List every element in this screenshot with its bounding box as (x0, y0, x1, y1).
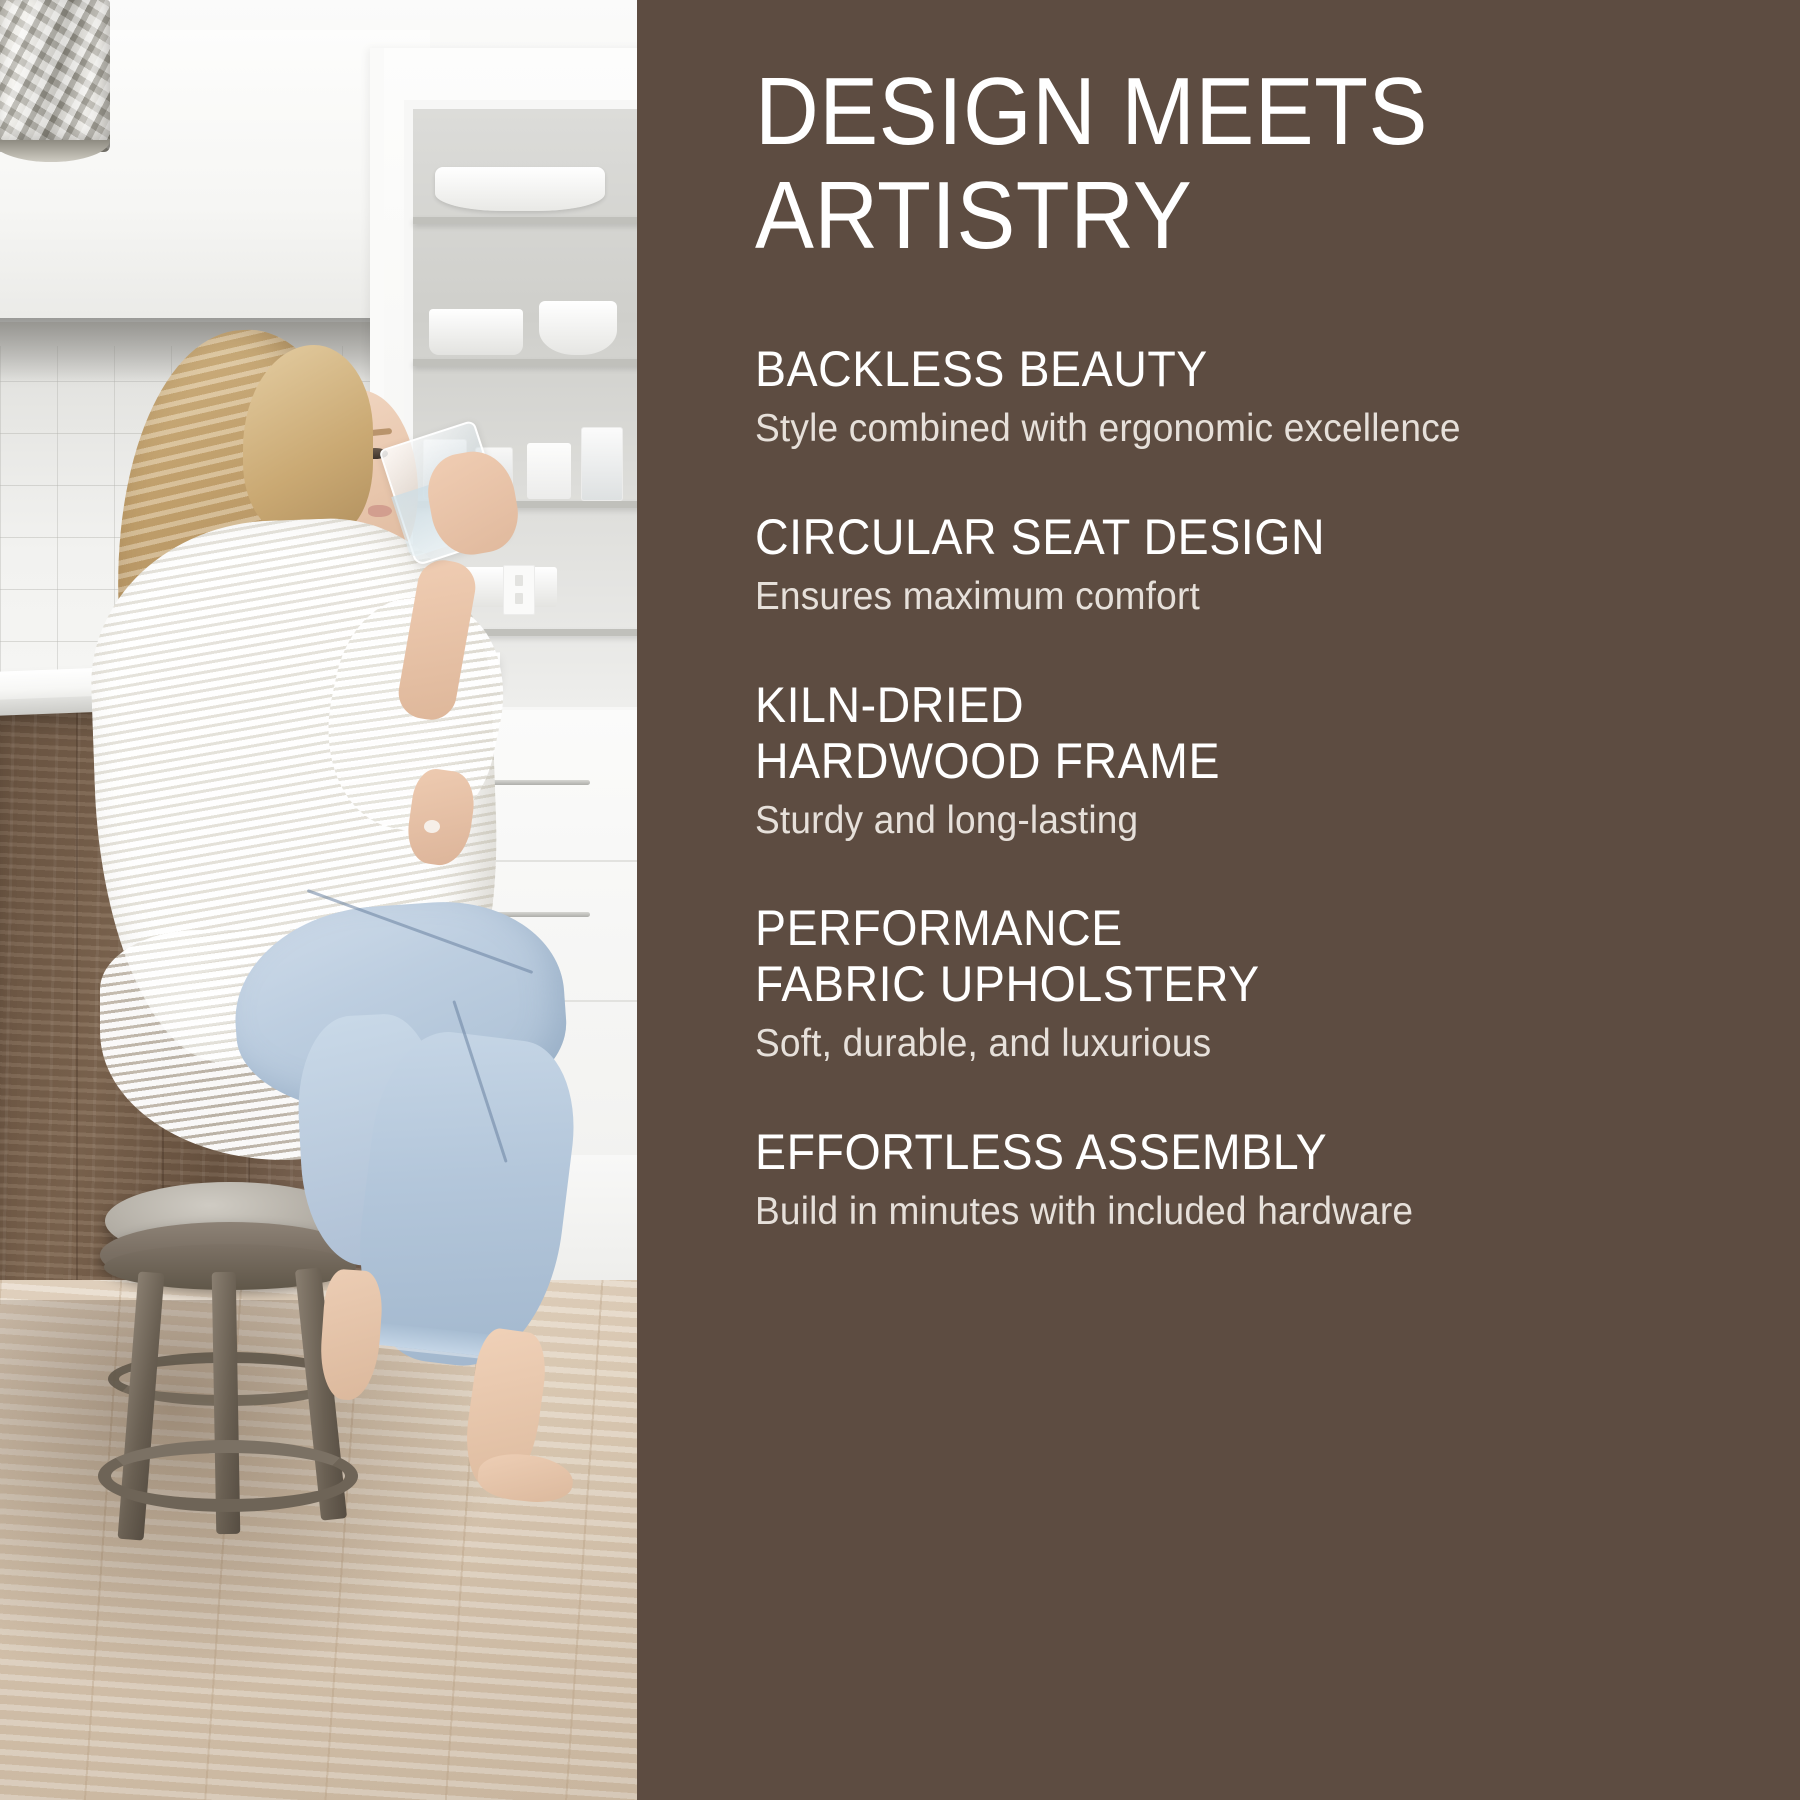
feature-title-line-1: CIRCULAR SEAT DESIGN (755, 509, 1325, 565)
lifestyle-photo (0, 0, 637, 1800)
model-fingernail (424, 820, 440, 833)
feature-title-line-1: EFFORTLESS ASSEMBLY (755, 1124, 1327, 1180)
stacked-plates (429, 309, 523, 355)
bowl-stack (539, 301, 617, 355)
feature-title-line-1: KILN-DRIED (755, 677, 1024, 733)
electrical-outlet (503, 565, 535, 615)
glass-bottle (581, 427, 623, 501)
feature-item-effortless-assembly: EFFORTLESS ASSEMBLY Build in minutes wit… (755, 1124, 1728, 1236)
feature-item-backless-beauty: BACKLESS BEAUTY Style combined with ergo… (755, 341, 1728, 453)
feature-title: KILN-DRIED HARDWOOD FRAME (755, 677, 1660, 789)
feature-title: EFFORTLESS ASSEMBLY (755, 1124, 1660, 1180)
page-title: DESIGN MEETS ARTISTRY (755, 60, 1650, 267)
feature-subtitle: Sturdy and long-lasting (755, 797, 1679, 845)
headline-line-1: DESIGN MEETS (755, 58, 1428, 165)
feature-title: PERFORMANCE FABRIC UPHOLSTERY (755, 900, 1660, 1012)
product-feature-poster: DESIGN MEETS ARTISTRY BACKLESS BEAUTY St… (0, 0, 1800, 1800)
feature-list: BACKLESS BEAUTY Style combined with ergo… (755, 341, 1728, 1235)
serving-bowl (435, 167, 605, 211)
barstool-footrest-ring (98, 1440, 358, 1512)
feature-item-performance-fabric-upholstery: PERFORMANCE FABRIC UPHOLSTERY Soft, dura… (755, 900, 1728, 1068)
cabinet-shelf (413, 217, 637, 224)
feature-title-line-2: FABRIC UPHOLSTERY (755, 956, 1660, 1012)
cabinet-shelf (413, 359, 637, 366)
ceramic-jar (527, 443, 571, 499)
feature-title-line-1: PERFORMANCE (755, 900, 1123, 956)
feature-text-panel: DESIGN MEETS ARTISTRY BACKLESS BEAUTY St… (637, 0, 1800, 1800)
headline-line-2: ARTISTRY (755, 164, 1650, 268)
feature-title-line-1: BACKLESS BEAUTY (755, 341, 1208, 397)
feature-subtitle: Build in minutes with included hardware (755, 1188, 1679, 1236)
feature-title: CIRCULAR SEAT DESIGN (755, 509, 1660, 565)
feature-subtitle: Soft, durable, and luxurious (755, 1020, 1679, 1068)
model-lips (368, 505, 392, 517)
feature-item-kiln-dried-hardwood-frame: KILN-DRIED HARDWOOD FRAME Sturdy and lon… (755, 677, 1728, 845)
feature-item-circular-seat-design: CIRCULAR SEAT DESIGN Ensures maximum com… (755, 509, 1728, 621)
feature-title: BACKLESS BEAUTY (755, 341, 1660, 397)
pendant-light-icon (0, 0, 110, 152)
feature-subtitle: Ensures maximum comfort (755, 573, 1679, 621)
feature-subtitle: Style combined with ergonomic excellence (755, 405, 1679, 453)
feature-title-line-2: HARDWOOD FRAME (755, 733, 1660, 789)
